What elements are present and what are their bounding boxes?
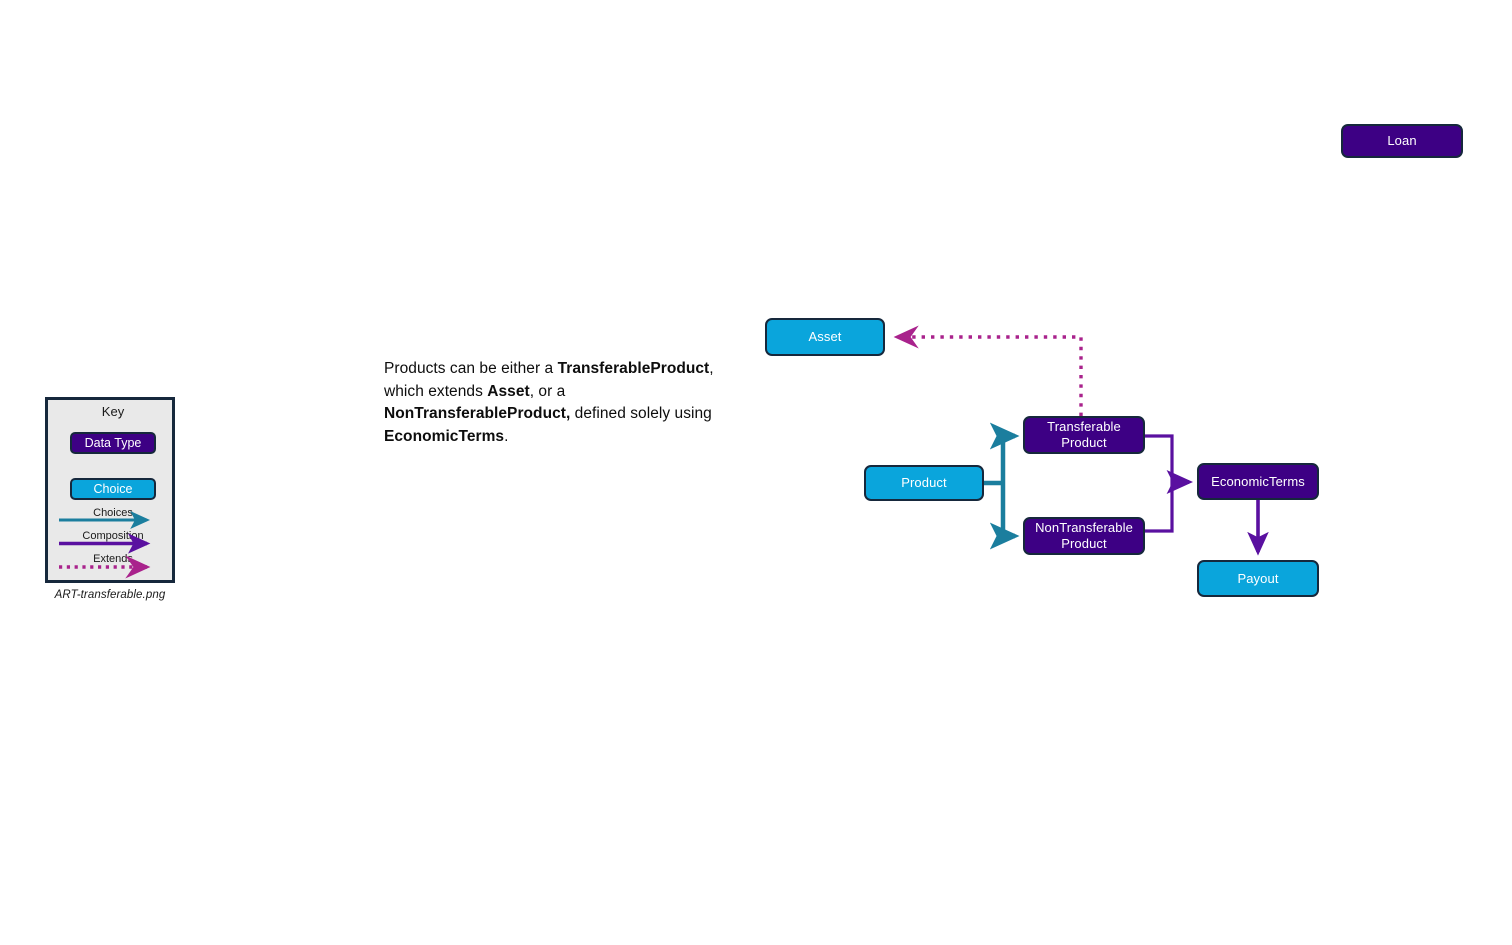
key-label-extends: Extends: [48, 553, 178, 565]
description-emphasis: Asset: [487, 383, 529, 400]
node-asset-label: Asset: [808, 329, 841, 345]
description-text: defined solely using: [570, 405, 712, 422]
key-title: Key: [48, 404, 178, 419]
node-payout[interactable]: Payout: [1197, 560, 1319, 597]
node-loan[interactable]: Loan: [1341, 124, 1463, 158]
node-transferable-product[interactable]: TransferableProduct: [1023, 416, 1145, 454]
node-loan-label: Loan: [1387, 133, 1416, 149]
edge-transferable-extends-asset: [897, 337, 1081, 416]
node-nontransferable-product-label: NonTransferableProduct: [1035, 520, 1133, 552]
key-label-choices: Choices: [48, 507, 178, 519]
key-swatch-data-type: Data Type: [70, 432, 156, 454]
description-text: .: [504, 428, 508, 445]
node-economic-terms[interactable]: EconomicTerms: [1197, 463, 1319, 500]
key-swatch-choice: Choice: [70, 478, 156, 500]
node-nontransferable-product[interactable]: NonTransferableProduct: [1023, 517, 1145, 555]
description-emphasis: EconomicTerms: [384, 428, 504, 445]
node-product-label: Product: [901, 475, 947, 491]
node-product[interactable]: Product: [864, 465, 984, 501]
key-swatch-data-type-label: Data Type: [85, 436, 142, 450]
description-text: , or a: [530, 383, 566, 400]
description-emphasis: TransferableProduct: [558, 360, 710, 377]
node-asset[interactable]: Asset: [765, 318, 885, 356]
description-emphasis: NonTransferableProduct,: [384, 405, 570, 422]
edge-products-composition: [1145, 436, 1189, 531]
node-payout-label: Payout: [1237, 571, 1278, 587]
key-label-composition: Composition: [48, 530, 178, 542]
edge-product-choices: [984, 436, 1015, 537]
key-swatch-choice-label: Choice: [94, 482, 133, 496]
node-transferable-product-label: TransferableProduct: [1047, 419, 1121, 451]
description-paragraph: Products can be either a TransferablePro…: [384, 358, 714, 448]
key-panel: Key Data Type Choice Choices Composition…: [45, 397, 175, 583]
key-caption: ART-transferable.png: [20, 589, 200, 601]
description-text: Products can be either a: [384, 360, 558, 377]
node-economic-terms-label: EconomicTerms: [1211, 474, 1305, 490]
